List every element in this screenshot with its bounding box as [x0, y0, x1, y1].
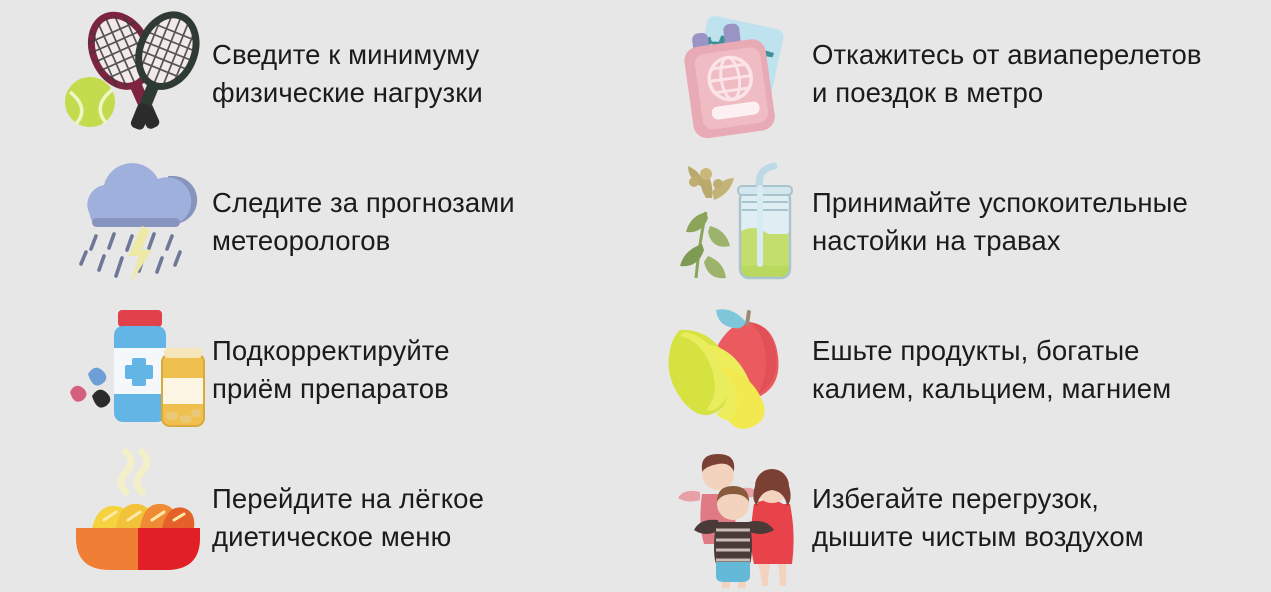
infographic-root: Сведите к минимуму физические нагрузки — [0, 0, 1271, 592]
tip-item-follow-weather-forecasts: Следите за прогнозами метеорологов — [0, 148, 640, 296]
tip-text: Следите за прогнозами метеорологов — [212, 184, 515, 260]
steaming-bowl-icon — [62, 448, 212, 588]
tip-item-avoid-overload-breathe-fresh-air: Избегайте перегрузок, дышите чистым возд… — [640, 444, 1271, 592]
tip-item-eat-potassium-calcium-magnesium: Ешьте продукты, богатые калием, кальцием… — [640, 296, 1271, 444]
tennis-rackets-icon — [62, 4, 212, 144]
tip-text: Сведите к минимуму физические нагрузки — [212, 36, 483, 112]
tip-item-take-herbal-sedatives: Принимайте успокоительные настойки на тр… — [640, 148, 1271, 296]
tip-item-reduce-physical-activity: Сведите к минимуму физические нагрузки — [0, 0, 640, 148]
tip-text: Откажитесь от авиаперелетов и поездок в … — [812, 36, 1202, 112]
rain-cloud-icon — [62, 152, 212, 292]
tip-item-adjust-medication-intake: Подкорректируйте приём препаратов — [0, 296, 640, 444]
tip-item-avoid-air-travel-and-metro: Откажитесь от авиаперелетов и поездок в … — [640, 0, 1271, 148]
tip-text: Принимайте успокоительные настойки на тр… — [812, 184, 1188, 260]
herbs-and-smoothie-icon — [662, 152, 812, 292]
three-children-icon — [662, 448, 812, 588]
passport-tickets-icon — [662, 4, 812, 144]
tip-text: Перейдите на лёгкое диетическое меню — [212, 480, 484, 556]
tip-text: Ешьте продукты, богатые калием, кальцием… — [812, 332, 1171, 408]
tip-item-switch-to-light-diet: Перейдите на лёгкое диетическое меню — [0, 444, 640, 592]
tip-text: Подкорректируйте приём препаратов — [212, 332, 450, 408]
banana-apple-icon — [662, 300, 812, 440]
medicine-bottles-icon — [62, 300, 212, 440]
tip-text: Избегайте перегрузок, дышите чистым возд… — [812, 480, 1144, 556]
